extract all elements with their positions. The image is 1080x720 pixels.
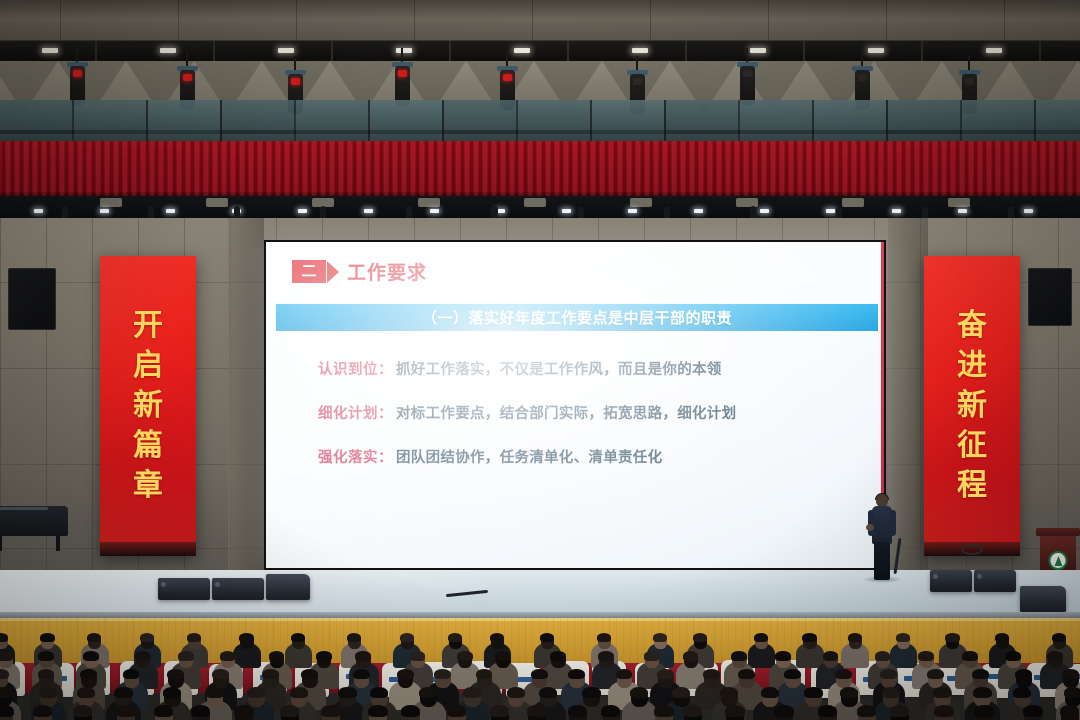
audience-person-hair: [616, 669, 633, 679]
light-spot: [562, 209, 571, 213]
valance-highlight: [402, 141, 406, 197]
ceiling-seam: [650, 0, 651, 42]
valance-highlight: [195, 141, 199, 197]
audience-person-hair: [38, 651, 54, 661]
ceiling-seam: [886, 0, 887, 42]
light-fixture: [418, 198, 440, 207]
valance-pleat: [308, 141, 311, 197]
valance-highlight: [996, 141, 1000, 197]
ceiling-seam: [414, 0, 415, 42]
banner-left-char-2: 新: [133, 391, 163, 421]
slide-subtitle-text: （一）落实好年度工作要点是中层干部的职责: [422, 307, 732, 328]
upper-glass-band: [0, 100, 1080, 142]
banner-left-char-1: 启: [133, 351, 163, 381]
glass-pane: [0, 100, 74, 142]
audience-person-hair: [857, 705, 877, 717]
audience-person-hair: [882, 687, 900, 698]
valance-pleat: [425, 141, 428, 197]
valance-highlight: [501, 141, 505, 197]
valance-highlight: [1068, 141, 1072, 197]
audience-person-hair: [191, 705, 211, 717]
audience-person-hair: [123, 669, 140, 679]
audience-person-hair: [890, 705, 910, 717]
audience-person-hair: [875, 651, 891, 661]
glass-pane: [74, 100, 148, 142]
audience-person-hair: [653, 633, 667, 642]
valance-pleat: [947, 141, 950, 197]
audience-person-hair: [135, 651, 151, 661]
wall-panel-line: [92, 218, 93, 570]
wall-speaker-left: [8, 268, 56, 330]
audience-person-hair: [918, 651, 934, 661]
valance-highlight: [762, 141, 766, 197]
valance-pleat: [344, 141, 347, 197]
audience-person-hair: [39, 687, 57, 698]
valance-pleat: [389, 141, 392, 197]
audience-person-hair: [38, 669, 55, 679]
valance-highlight: [798, 141, 802, 197]
valance-pleat: [1001, 141, 1004, 197]
valance-highlight: [888, 141, 892, 197]
banner-right-char-0: 奋: [957, 311, 987, 341]
audience-person-hair: [725, 705, 745, 717]
valance-pleat: [893, 141, 896, 197]
audience-person-hair: [206, 687, 224, 698]
valance-pleat: [848, 141, 851, 197]
light-spot: [100, 209, 109, 213]
valance-pleat: [857, 141, 860, 197]
truss-light: [986, 48, 1002, 53]
audience-person-hair: [0, 633, 8, 642]
audience-person-hair: [490, 633, 504, 642]
audience-person-hair: [683, 651, 699, 661]
valance-pleat: [812, 141, 815, 197]
valance-pleat: [20, 141, 23, 197]
valance-pleat: [11, 141, 14, 197]
valance-highlight: [843, 141, 847, 197]
valance-highlight: [429, 141, 433, 197]
audience-person-hair: [447, 705, 467, 717]
banner-right-char-3: 征: [957, 431, 987, 461]
truss-light: [42, 48, 58, 53]
valance-pleat: [794, 141, 797, 197]
valance-pleat: [1019, 141, 1022, 197]
valance-highlight: [519, 141, 523, 197]
valance-highlight: [546, 141, 550, 197]
audience-person-hair: [848, 633, 862, 642]
podium-body: [1040, 536, 1076, 574]
audience-person-hair: [178, 651, 194, 661]
audience-person-hair: [316, 651, 332, 661]
valance-highlight: [474, 141, 478, 197]
light-fixture: [630, 198, 652, 207]
valance-pleat: [227, 141, 230, 197]
valance-pleat: [317, 141, 320, 197]
banner-right-text: 奋 进 新 征 程: [924, 256, 1020, 556]
valance-pleat: [1028, 141, 1031, 197]
audience-person-hair: [0, 687, 12, 698]
valance-highlight: [879, 141, 883, 197]
audience-person-hair: [73, 705, 93, 717]
valance-pleat: [686, 141, 689, 197]
audience-person-hair: [220, 651, 236, 661]
truss-post: [95, 41, 97, 63]
led-screen[interactable]: 二 工作要求 （一）落实好年度工作要点是中层干部的职责 认识到位： 抓好工作落实…: [264, 240, 886, 570]
audience-person-hair: [540, 633, 554, 642]
audience-person-hair: [731, 651, 747, 661]
lamp-lens: [398, 70, 407, 77]
audience-person-hair: [1023, 705, 1043, 717]
presenter-hand: [866, 524, 874, 531]
valance-pleat: [2, 141, 5, 197]
lamp-lens: [965, 78, 974, 85]
glass-pane: [370, 100, 444, 142]
valance-pleat: [560, 141, 563, 197]
valance-highlight: [123, 141, 127, 197]
valance-pleat: [407, 141, 410, 197]
audience-person-hair: [353, 669, 370, 679]
audience-person-hair: [972, 669, 989, 679]
valance-highlight: [1014, 141, 1018, 197]
glass-pane: [666, 100, 740, 142]
audience-person-hair: [804, 687, 822, 698]
truss-light: [868, 48, 884, 53]
audience-person-hair: [896, 633, 910, 642]
audience-person-hair: [995, 633, 1009, 642]
audience-person-hair: [683, 705, 703, 717]
audience-person-hair: [163, 687, 181, 698]
light-spot: [364, 209, 373, 213]
audience-person-hair: [262, 669, 279, 679]
valance-pleat: [956, 141, 959, 197]
piano: [0, 506, 68, 550]
valance-highlight: [1059, 141, 1063, 197]
audience-person-hair: [598, 651, 614, 661]
glass-pane: [148, 100, 222, 142]
valance-pleat: [533, 141, 536, 197]
valance-pleat: [38, 141, 41, 197]
audience-person-hair: [945, 633, 959, 642]
lamp-lens: [858, 74, 867, 81]
ceiling-seam: [1004, 0, 1005, 42]
valance-highlight: [852, 141, 856, 197]
valance-highlight: [555, 141, 559, 197]
slide-line-label: 细化计划：: [318, 402, 393, 423]
valance-highlight: [1041, 141, 1045, 197]
valance-highlight: [1050, 141, 1054, 197]
valance-highlight: [240, 141, 244, 197]
audience-person-hair: [338, 687, 356, 698]
valance-pleat: [452, 141, 455, 197]
stage-light-bar: [0, 196, 1080, 218]
valance-highlight: [348, 141, 352, 197]
valance-highlight: [42, 141, 46, 197]
valance-highlight: [312, 141, 316, 197]
red-curtain-valance: [0, 141, 1080, 197]
light-spot: [760, 209, 769, 213]
valance-pleat: [83, 141, 86, 197]
valance-pleat: [992, 141, 995, 197]
tree-icon: [1054, 556, 1062, 566]
truss-light: [514, 48, 530, 53]
audience-person-hair: [802, 633, 816, 642]
valance-pleat: [1064, 141, 1067, 197]
valance-pleat: [605, 141, 608, 197]
glass-pane: [814, 100, 888, 142]
valance-pleat: [101, 141, 104, 197]
banner-right-char-1: 进: [957, 351, 987, 381]
ceiling-seam: [296, 0, 297, 42]
piano-leg: [0, 536, 2, 551]
valance-highlight: [357, 141, 361, 197]
ceiling-seam: [532, 0, 533, 42]
presenter: [868, 494, 896, 580]
audience-person-hair: [167, 669, 184, 679]
stage-monitor: [212, 578, 264, 600]
valance-highlight: [483, 141, 487, 197]
valance-highlight: [339, 141, 343, 197]
lamp-lens: [503, 74, 512, 81]
valance-highlight: [222, 141, 226, 197]
audience-person-hair: [33, 705, 53, 717]
audience-person-hair: [934, 705, 954, 717]
glass-pane: [296, 100, 370, 142]
lamp-lens: [633, 78, 642, 85]
valance-pleat: [254, 141, 257, 197]
valance-highlight: [663, 141, 667, 197]
valance-highlight: [978, 141, 982, 197]
valance-pleat: [722, 141, 725, 197]
valance-highlight: [672, 141, 676, 197]
audience-person-hair: [754, 633, 768, 642]
valance-highlight: [987, 141, 991, 197]
valance-highlight: [897, 141, 901, 197]
valance-pleat: [191, 141, 194, 197]
audience-person-hair: [301, 669, 318, 679]
valance-pleat: [740, 141, 743, 197]
valance-highlight: [969, 141, 973, 197]
lamp-lens: [743, 70, 752, 77]
audience-person-hair: [368, 705, 388, 717]
valance-highlight: [159, 141, 163, 197]
valance-highlight: [267, 141, 271, 197]
stage-monitor: [1020, 586, 1066, 612]
audience-person-hair: [140, 633, 154, 642]
valance-pleat: [380, 141, 383, 197]
valance-highlight: [15, 141, 19, 197]
valance-highlight: [1023, 141, 1027, 197]
valance-pleat: [371, 141, 374, 197]
valance-pleat: [713, 141, 716, 197]
light-spot: [166, 209, 175, 213]
light-spot: [958, 209, 967, 213]
valance-pleat: [353, 141, 356, 197]
valance-pleat: [911, 141, 914, 197]
light-spot: [826, 209, 835, 213]
valance-pleat: [173, 141, 176, 197]
auditorium-scene: 开 启 新 篇 章 奋 进 新 征 程 二 工作要求: [0, 0, 1080, 720]
ceiling-seam: [60, 0, 61, 42]
valance-highlight: [285, 141, 289, 197]
audience-person-hair: [347, 633, 361, 642]
valance-highlight: [744, 141, 748, 197]
valance-pleat: [209, 141, 212, 197]
valance-highlight: [105, 141, 109, 197]
valance-pleat: [416, 141, 419, 197]
valance-pleat: [137, 141, 140, 197]
stage-monitor: [930, 570, 972, 592]
banner-left-char-3: 篇: [133, 431, 163, 461]
slide-line: 认识到位： 抓好工作落实，不仅是工作作风，而且是你的本领: [318, 358, 858, 379]
valance-pleat: [56, 141, 59, 197]
truss-post: [449, 41, 451, 63]
valance-pleat: [200, 141, 203, 197]
valance-highlight: [321, 141, 325, 197]
audience-person-hair: [410, 651, 426, 661]
section-title: 工作要求: [347, 258, 427, 285]
valance-pleat: [146, 141, 149, 197]
valance-pleat: [587, 141, 590, 197]
piano-leg: [56, 536, 60, 551]
audience-person-hair: [962, 651, 978, 661]
valance-pleat: [551, 141, 554, 197]
valance-pleat: [155, 141, 158, 197]
audience-person-hair: [774, 705, 794, 717]
valance-highlight: [24, 141, 28, 197]
audience-person-hair: [601, 705, 621, 717]
audience-person-hair: [775, 651, 791, 661]
banner-left-text: 开 启 新 篇 章: [100, 256, 196, 556]
audience-person-hair: [1005, 651, 1021, 661]
valance-pleat: [362, 141, 365, 197]
truss-light: [396, 48, 412, 53]
ceiling-panel: [0, 0, 1080, 42]
valance-pleat: [659, 141, 662, 197]
podium-top: [1036, 528, 1080, 536]
valance-pleat: [245, 141, 248, 197]
valance-highlight: [780, 141, 784, 197]
light-fixture: [206, 198, 228, 207]
audience-person-hair: [1062, 669, 1079, 679]
banner-left-char-4: 章: [133, 471, 163, 501]
valance-pleat: [335, 141, 338, 197]
valance-pleat: [92, 141, 95, 197]
audience-person-hair: [434, 669, 451, 679]
audience-person-hair: [187, 633, 201, 642]
audience-person-hair: [40, 633, 54, 642]
audience-person-hair: [0, 669, 9, 679]
valance-highlight: [366, 141, 370, 197]
valance-highlight: [825, 141, 829, 197]
banner-left: 开 启 新 篇 章: [100, 256, 196, 556]
audience-person-hair: [974, 705, 994, 717]
audience-person-hair: [630, 687, 648, 698]
valance-pleat: [434, 141, 437, 197]
truss-post: [213, 41, 215, 63]
valance-highlight: [114, 141, 118, 197]
section-number-label: 二: [301, 264, 316, 279]
presenter-torso: [872, 506, 892, 544]
valance-highlight: [411, 141, 415, 197]
slide-line-text: 抓好工作落实，不仅是工作作风，而且是你的本领: [396, 358, 722, 379]
valance-highlight: [132, 141, 136, 197]
valance-highlight: [609, 141, 613, 197]
valance-pleat: [119, 141, 122, 197]
valance-highlight: [951, 141, 955, 197]
valance-highlight: [1005, 141, 1009, 197]
audience-person-hair: [154, 705, 174, 717]
banner-right-char-2: 新: [957, 391, 987, 421]
valance-pleat: [731, 141, 734, 197]
valance-pleat: [236, 141, 239, 197]
valance-pleat: [938, 141, 941, 197]
audience-person-hair: [644, 651, 660, 661]
audience-person-hair: [247, 687, 265, 698]
audience-person-hair: [80, 669, 97, 679]
audience-person-hair: [840, 687, 858, 698]
valance-highlight: [438, 141, 442, 197]
light-spot: [628, 209, 637, 213]
slide-line-text: 团队团结协作，任务清单化、清单责任化: [396, 446, 662, 467]
valance-highlight: [168, 141, 172, 197]
light-spot: [34, 209, 43, 213]
valance-pleat: [920, 141, 923, 197]
audience-person-hair: [355, 651, 371, 661]
valance-highlight: [591, 141, 595, 197]
valance-highlight: [960, 141, 964, 197]
audience-person-hair: [280, 705, 300, 717]
valance-highlight: [537, 141, 541, 197]
valance-highlight: [249, 141, 253, 197]
valance-pleat: [299, 141, 302, 197]
valance-pleat: [281, 141, 284, 197]
valance-pleat: [830, 141, 833, 197]
presenter-arm: [868, 510, 874, 536]
valance-highlight: [807, 141, 811, 197]
valance-highlight: [924, 141, 928, 197]
valance-pleat: [488, 141, 491, 197]
audience-person-hair: [77, 687, 95, 698]
audience-person-hair: [321, 705, 341, 717]
presenter-arm: [890, 510, 896, 536]
podium-emblem-icon: [1049, 551, 1068, 570]
audience-person-hair: [1064, 687, 1080, 698]
valance-highlight: [726, 141, 730, 197]
valance-pleat: [74, 141, 77, 197]
valance-highlight: [834, 141, 838, 197]
slide-line-text: 对标工作要点，结合部门实际，拓宽思路，细化计划: [396, 402, 736, 423]
valance-pleat: [164, 141, 167, 197]
glass-pane: [592, 100, 666, 142]
audience-person-hair: [582, 687, 600, 698]
valance-pleat: [776, 141, 779, 197]
valance-highlight: [294, 141, 298, 197]
truss-post: [567, 41, 569, 63]
ceiling-truss: [0, 40, 1080, 62]
valance-pleat: [470, 141, 473, 197]
valance-highlight: [231, 141, 235, 197]
glass-pane: [740, 100, 814, 142]
ceiling-seam: [768, 0, 769, 42]
valance-pleat: [182, 141, 185, 197]
truss-light: [750, 48, 766, 53]
valance-pleat: [1010, 141, 1013, 197]
valance-pleat: [497, 141, 500, 197]
glass-pane: [444, 100, 518, 142]
audience-person-hair: [419, 687, 437, 698]
valance-pleat: [218, 141, 221, 197]
valance-pleat: [650, 141, 653, 197]
